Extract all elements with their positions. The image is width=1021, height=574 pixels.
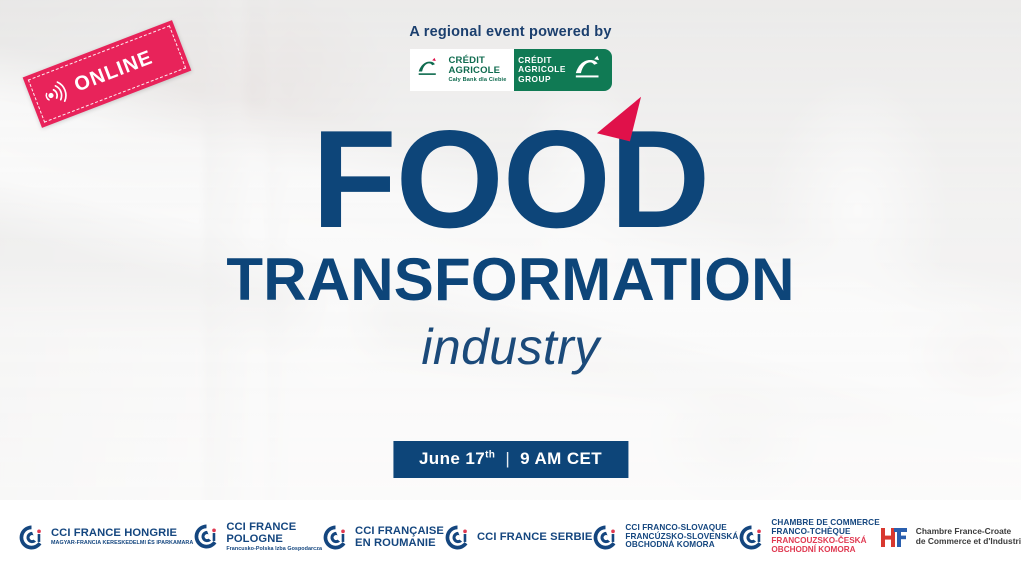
datetime-separator: | <box>495 449 520 469</box>
cci-logo-icon <box>18 524 45 551</box>
partner-cci-francaise-en-roumanie: CCI FRANÇAISE EN ROUMANIE <box>322 524 444 551</box>
event-date-ordinal: th <box>485 449 495 460</box>
title-word-industry: industry <box>0 322 1021 372</box>
partner-chambre-franco-tcheque: CHAMBRE DE COMMERCE FRANCO-TCHÈQUE FRANC… <box>738 519 879 554</box>
partner-cci-france-serbie: CCI FRANCE SERBIE <box>444 524 592 551</box>
title-food-text: FOOD <box>312 102 710 257</box>
partner-cci-france-hongrie: CCI FRANCE HONGRIE MAGYAR-FRANCIA KERESK… <box>18 524 193 551</box>
partner-logo-bar: CCI FRANCE HONGRIE MAGYAR-FRANCIA KERESK… <box>0 500 1021 574</box>
ca-monogram-icon <box>573 55 607 85</box>
sponsor-logos: CRÉDIT AGRICOLE Cały Bank dla Ciebie CRÉ… <box>0 49 1021 91</box>
partner-name-line2: de Commerce et d'Industrie <box>916 537 1021 547</box>
ca-monogram-icon <box>416 57 443 82</box>
powered-by-block: A regional event powered by CRÉDIT AGRIC… <box>0 24 1021 91</box>
event-date: June 17 <box>419 449 485 468</box>
sponsor-cag-line3: GROUP <box>518 75 566 84</box>
event-time: 9 AM CET <box>520 449 602 468</box>
partner-cci-france-pologne: CCI FRANCE POLOGNE Francusko-Polska Izba… <box>193 521 322 553</box>
partner-name-line1: CCI FRANÇAISE <box>355 525 444 537</box>
partner-name-red-line2: OBCHODNÍ KOMORA <box>771 546 879 555</box>
sponsor-credit-agricole-group: CRÉDIT AGRICOLE GROUP <box>514 49 612 91</box>
partner-name: CCI FRANCE HONGRIE <box>51 527 193 539</box>
title-word-transformation: TRANSFORMATION <box>0 250 1021 310</box>
partner-subtitle: Francusko-Polska Izba Gospodarcza <box>226 547 322 553</box>
sponsor-credit-agricole: CRÉDIT AGRICOLE Cały Bank dla Ciebie <box>410 49 514 91</box>
event-banner: ONLINE A regional event powered by CRÉDI… <box>0 0 1021 574</box>
cci-logo-icon <box>738 524 765 551</box>
partner-name: CCI FRANCE SERBIE <box>477 531 592 543</box>
hf-logo-icon <box>880 526 910 549</box>
partner-chambre-france-croate: Chambre France-Croate de Commerce et d'I… <box>880 526 1021 549</box>
cci-logo-icon <box>322 524 349 551</box>
event-datetime-bar: June 17th|9 AM CET <box>393 441 628 478</box>
sponsor-ca-tagline: Cały Bank dla Ciebie <box>448 78 506 84</box>
partner-name-line2: POLOGNE <box>226 533 322 545</box>
partner-subtitle: MAGYAR-FRANCIA KERESKEDELMI ÉS IPARKAMAR… <box>51 541 193 547</box>
cci-logo-icon <box>193 523 220 550</box>
partner-name-line1: CCI FRANCE <box>226 521 322 533</box>
sponsor-ca-line2: AGRICOLE <box>448 66 506 76</box>
title-word-food: FOOD <box>312 116 710 244</box>
partner-name-line3: OBCHODNÁ KOMORA <box>625 541 738 550</box>
title-block: FOOD TRANSFORMATION industry <box>0 116 1021 372</box>
powered-by-label: A regional event powered by <box>0 24 1021 40</box>
cci-logo-icon <box>444 524 471 551</box>
partner-name-line2: EN ROUMANIE <box>355 537 444 549</box>
partner-cci-franco-slovaque: CCI FRANCO-SLOVAQUE FRANCÚZSKO-SLOVENSKÁ… <box>592 524 738 551</box>
cci-logo-icon <box>592 524 619 551</box>
